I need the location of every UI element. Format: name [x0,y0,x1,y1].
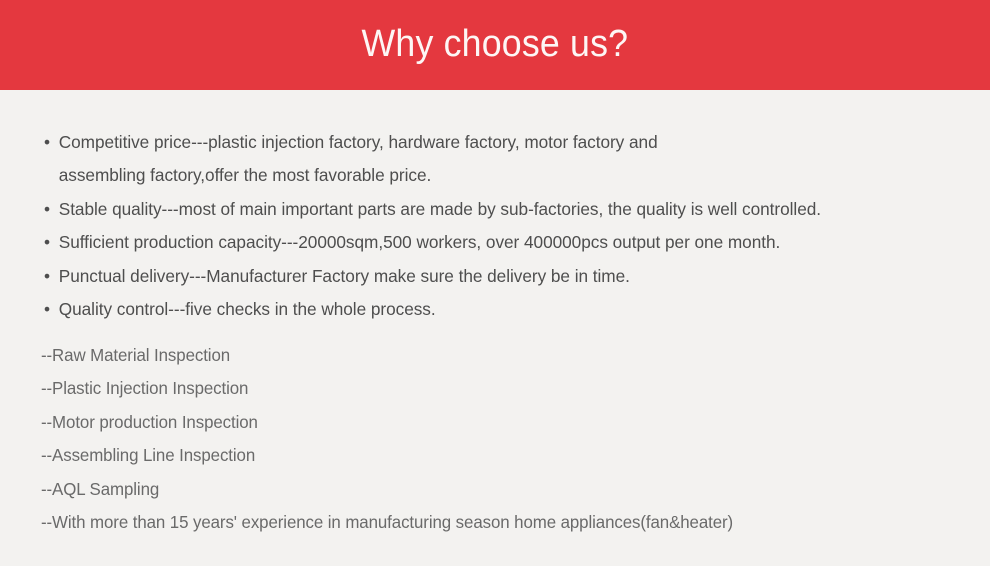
list-item: • Competitive price---plastic injection … [42,126,968,193]
advantage-line: Stable quality---most of main important … [59,193,968,226]
advantage-text: Quality control---five checks in the who… [59,293,968,326]
bullet-icon: • [44,293,50,326]
advantage-line: Competitive price---plastic injection fa… [59,126,968,159]
why-choose-us-page: Why choose us? • Competitive price---pla… [0,0,990,566]
advantages-list: • Competitive price---plastic injection … [42,126,982,326]
list-item: • Sufficient production capacity---20000… [42,226,968,259]
bullet-icon: • [44,260,50,293]
list-item: • Quality control---five checks in the w… [42,293,968,326]
list-item: --Assembling Line Inspection [41,439,948,472]
page-title: Why choose us? [362,25,629,65]
bullet-icon: • [44,193,50,226]
advantage-text: Sufficient production capacity---20000sq… [59,226,968,259]
body-content: • Competitive price---plastic injection … [0,90,990,566]
advantage-line: Quality control---five checks in the who… [59,293,968,326]
advantage-text: Competitive price---plastic injection fa… [59,126,968,193]
list-item: • Punctual delivery---Manufacturer Facto… [42,260,968,293]
list-item: --AQL Sampling [41,473,948,506]
inspection-steps-list: --Raw Material Inspection --Plastic Inje… [41,339,981,539]
advantage-line: Sufficient production capacity---20000sq… [59,226,968,259]
advantage-text: Stable quality---most of main important … [59,193,968,226]
bullet-icon: • [44,126,50,159]
advantage-text: Punctual delivery---Manufacturer Factory… [59,260,968,293]
list-item: --Plastic Injection Inspection [41,372,948,405]
list-item: --Raw Material Inspection [41,339,948,372]
list-item: • Stable quality---most of main importan… [42,193,968,226]
bullet-icon: • [44,226,50,259]
advantage-line-continued: assembling factory,offer the most favora… [59,159,968,192]
advantage-line: Punctual delivery---Manufacturer Factory… [59,260,968,293]
list-item: --Motor production Inspection [41,406,948,439]
list-item: --With more than 15 years' experience in… [41,506,948,539]
header-banner: Why choose us? [0,0,990,90]
